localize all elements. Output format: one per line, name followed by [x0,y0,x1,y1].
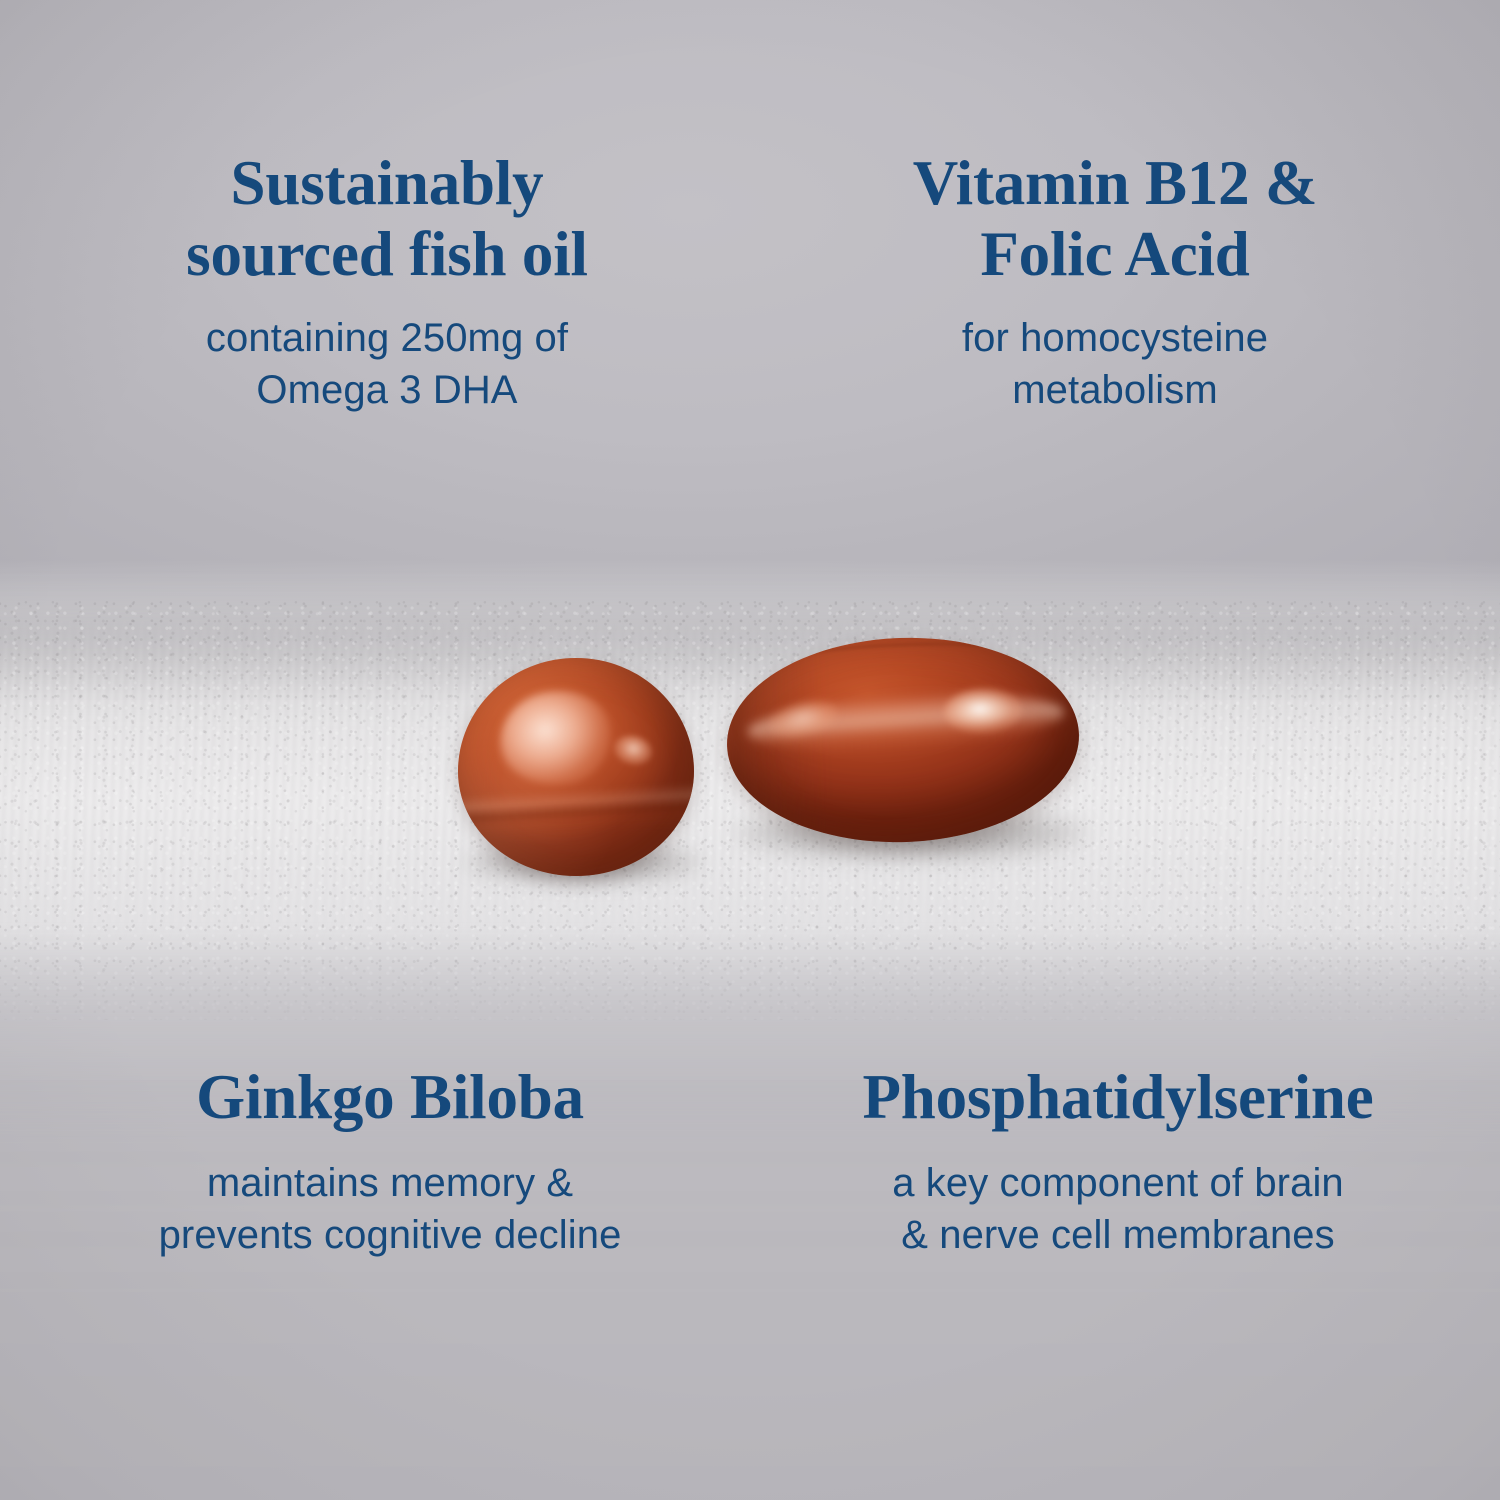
feature-subtitle: for homocysteine metabolism [770,312,1460,416]
feature-vitamin-b12-folic-acid: Vitamin B12 & Folic Acid for homocystein… [770,148,1460,416]
feature-title: Sustainably sourced fish oil [42,148,732,290]
feature-phosphatidylserine: Phosphatidylserine a key component of br… [762,1062,1474,1261]
feature-ginkgo-biloba: Ginkgo Biloba maintains memory & prevent… [40,1062,740,1261]
feature-title: Vitamin B12 & Folic Acid [770,148,1460,290]
feature-title: Phosphatidylserine [762,1062,1474,1133]
feature-title: Ginkgo Biloba [40,1062,740,1133]
product-feature-infographic: Sustainably sourced fish oil containing … [0,0,1500,1500]
feature-subtitle: maintains memory & prevents cognitive de… [40,1157,740,1261]
feature-subtitle: a key component of brain & nerve cell me… [762,1157,1474,1261]
feature-subtitle: containing 250mg of Omega 3 DHA [42,312,732,416]
feature-sustainably-sourced-fish-oil: Sustainably sourced fish oil containing … [42,148,732,416]
small-round-softgel-capsule [458,658,694,876]
